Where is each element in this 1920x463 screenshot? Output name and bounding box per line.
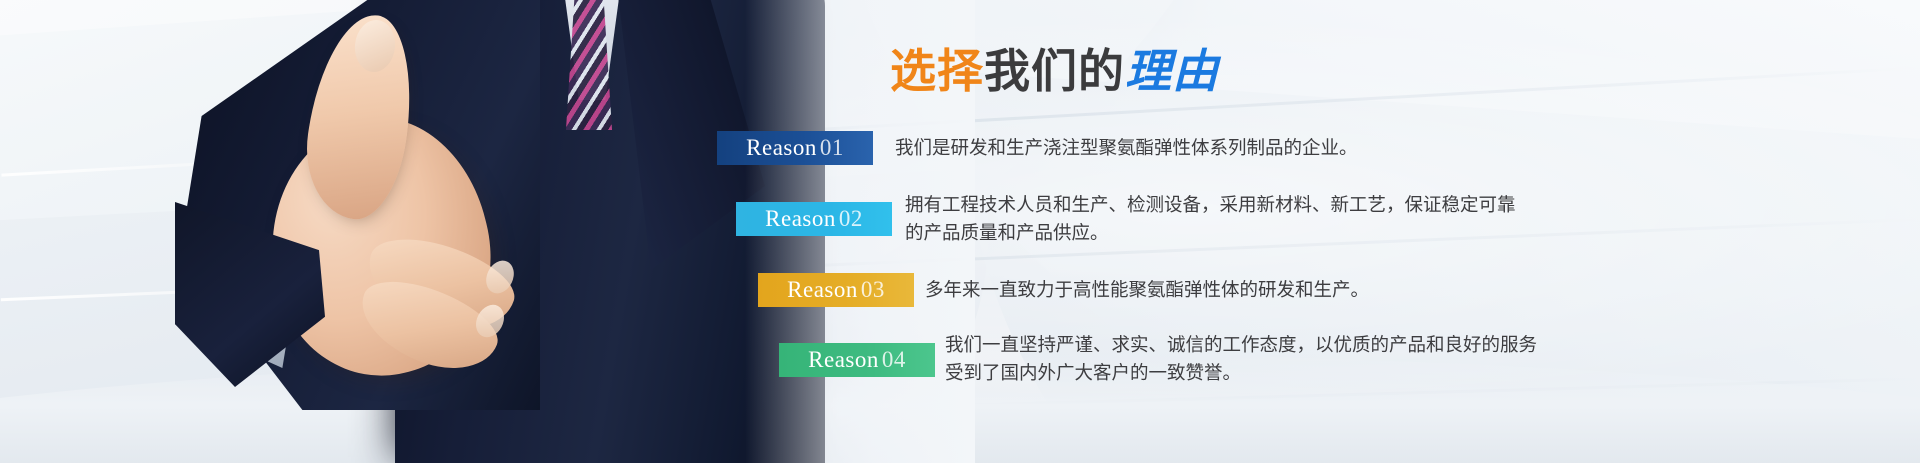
banner-content: 选择我们的理由 Reason01 我们是研发和生产浇注型聚氨酯弹性体系列制品的企…: [0, 0, 1920, 463]
reason-badge-label-04: Reason: [808, 347, 879, 372]
page-title: 选择我们的理由: [890, 48, 1219, 94]
why-choose-us-banner: 选择我们的理由 Reason01 我们是研发和生产浇注型聚氨酯弹性体系列制品的企…: [0, 0, 1920, 463]
reason-badge-02[interactable]: Reason02: [736, 202, 892, 236]
reason-badge-label-03: Reason: [787, 277, 858, 302]
reason-text-03: 多年来一直致力于高性能聚氨酯弹性体的研发和生产。: [925, 276, 1369, 304]
title-segment-blue: 理由: [1125, 45, 1219, 97]
reason-badge-number-03: 03: [861, 277, 885, 302]
reason-text-01: 我们是研发和生产浇注型聚氨酯弹性体系列制品的企业。: [895, 134, 1358, 162]
reason-badge-04[interactable]: Reason04: [779, 343, 935, 377]
title-segment-orange: 选择: [890, 45, 984, 97]
reason-badge-number-04: 04: [882, 347, 906, 372]
reason-badge-number-02: 02: [839, 206, 863, 231]
reason-text-04: 我们一直坚持严谨、求实、诚信的工作态度，以优质的产品和良好的服务 受到了国内外广…: [945, 331, 1537, 387]
reason-badge-label-01: Reason: [746, 135, 817, 160]
reason-text-02: 拥有工程技术人员和生产、检测设备，采用新材料、新工艺，保证稳定可靠 的产品质量和…: [905, 191, 1516, 247]
reason-badge-label-02: Reason: [765, 206, 836, 231]
title-segment-dark: 我们的: [984, 45, 1125, 97]
reason-badge-01[interactable]: Reason01: [717, 131, 873, 165]
reason-badge-03[interactable]: Reason03: [758, 273, 914, 307]
reason-badge-number-01: 01: [820, 135, 844, 160]
